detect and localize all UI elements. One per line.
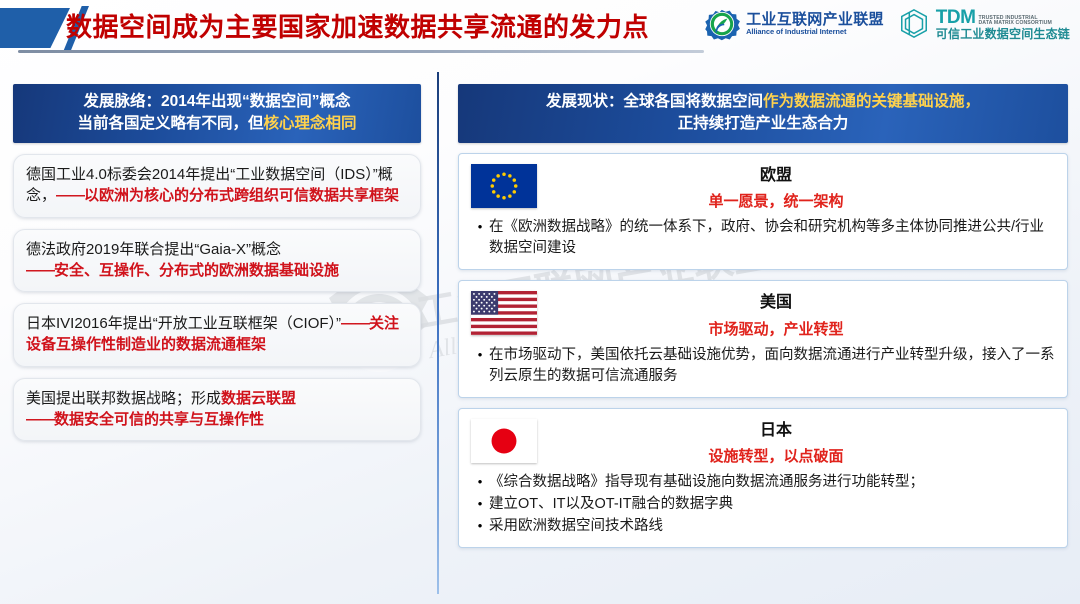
aii-gear-icon xyxy=(704,6,740,42)
tdm-logo-cn: 可信工业数据空间生态链 xyxy=(936,28,1070,41)
left-column: 发展脉络：2014年出现“数据空间”概念 当前各国定义略有不同，但核心理念相同 … xyxy=(0,70,434,604)
list-item: • 采用欧洲数据空间技术路线 xyxy=(471,516,1055,537)
jp-bullet-1: 《综合数据战略》指导现有基础设施向数据流通服务进行功能转型； xyxy=(489,472,1055,493)
tdm-abbr: TDM xyxy=(936,8,976,28)
tdm-sub-line2: DATA MATRIX CONSORTIUM xyxy=(978,21,1051,26)
header-accent-tab xyxy=(0,8,70,48)
card3-seg1: 日本IVI2016年提出“开放工业互联框架（CIOF）” xyxy=(26,315,341,332)
card4-seg1: 美国提出联邦数据战略；形成 xyxy=(26,390,221,407)
eu-flag-wrap xyxy=(471,162,567,208)
card1-dash: —— xyxy=(56,187,84,204)
jp-flag-wrap xyxy=(471,417,567,463)
tdm-logo: TDM TRUSTED INDUSTRIAL DATA MATRIX CONSO… xyxy=(898,7,1070,41)
card2-seg2: 安全、互操作、分布式的欧洲数据基础设施 xyxy=(54,262,339,279)
list-item: • 《综合数据战略》指导现有基础设施向数据流通服务进行功能转型； xyxy=(471,472,1055,493)
jp-bullets: • 《综合数据战略》指导现有基础设施向数据流通服务进行功能转型； • 建立OT、… xyxy=(471,472,1055,537)
column-divider xyxy=(437,72,439,594)
country-slogan-eu: 单一愿景，统一架构 xyxy=(567,189,985,215)
jp-bullet-3: 采用欧洲数据空间技术路线 xyxy=(489,516,1055,537)
country-name-jp: 日本 xyxy=(567,417,985,444)
list-item: • 在市场驱动下，美国依托云基础设施优势，面向数据流通进行产业转型升级，接入了一… xyxy=(471,345,1055,387)
jp-flag-icon xyxy=(471,419,537,463)
bullet-dot-icon: • xyxy=(471,516,489,536)
us-flag-wrap xyxy=(471,289,567,335)
eu-bullets: • 在《欧洲数据战略》的统一体系下，政府、协会和研究机构等多主体协同推进公共/行… xyxy=(471,217,1055,259)
country-name-eu: 欧盟 xyxy=(567,162,985,189)
left-section-header: 发展脉络：2014年出现“数据空间”概念 当前各国定义略有不同，但核心理念相同 xyxy=(13,84,421,143)
timeline-card-germany-ids: 德国工业4.0标委会2014年提出“工业数据空间（IDS）”概念，——以欧洲为核… xyxy=(13,154,421,218)
eu-bullet-1: 在《欧洲数据战略》的统一体系下，政府、协会和研究机构等多主体协同推进公共/行业数… xyxy=(489,217,1055,259)
us-flag-icon xyxy=(471,291,537,335)
bullet-dot-icon: • xyxy=(471,217,489,237)
country-card-us: 美国 市场驱动，产业转型 • 在市场驱动下，美国依托云基础设施优势，面向数据流通… xyxy=(458,280,1068,397)
logo-group: 工业互联网产业联盟 Alliance of Industrial Interne… xyxy=(704,6,1070,42)
list-item: • 建立OT、IT以及OT-IT融合的数据字典 xyxy=(471,494,1055,515)
country-card-eu: 欧盟 单一愿景，统一架构 • 在《欧洲数据战略》的统一体系下，政府、协会和研究机… xyxy=(458,153,1068,270)
aii-logo-en: Alliance of Industrial Internet xyxy=(746,28,884,36)
timeline-card-us-federal: 美国提出联邦数据战略；形成数据云联盟 ——数据安全可信的共享与互操作性 xyxy=(13,378,421,442)
card2-dash: —— xyxy=(26,262,54,279)
bullet-dot-icon: • xyxy=(471,472,489,492)
header-divider xyxy=(18,50,704,53)
us-bullets: • 在市场驱动下，美国依托云基础设施优势，面向数据流通进行产业转型升级，接入了一… xyxy=(471,345,1055,387)
left-header-line1: 发展脉络：2014年出现“数据空间”概念 xyxy=(23,91,411,113)
right-header-line2: 正持续打造产业生态合力 xyxy=(468,113,1058,135)
tdm-cube-icon xyxy=(898,7,930,41)
card1-seg2: 以欧洲为核心的分布式跨组织可信数据共享框架 xyxy=(84,187,399,204)
eu-flag-icon xyxy=(471,164,537,208)
card4-dash: —— xyxy=(26,411,54,428)
bullet-dot-icon: • xyxy=(471,345,489,365)
right-header-line1-plain: 发展现状：全球各国将数据空间 xyxy=(546,93,763,110)
country-slogan-jp: 设施转型，以点破面 xyxy=(567,444,985,470)
card2-seg1: 德法政府2019年联合提出“Gaia-X”概念 xyxy=(26,241,281,258)
right-column: 发展现状：全球各国将数据空间作为数据流通的关键基础设施， 正持续打造产业生态合力 xyxy=(452,70,1074,604)
timeline-card-gaia-x: 德法政府2019年联合提出“Gaia-X”概念 ——安全、互操作、分布式的欧洲数… xyxy=(13,229,421,293)
page-title: 数据空间成为主要国家加速数据共享流通的发力点 xyxy=(66,6,649,48)
timeline-card-japan-ciof: 日本IVI2016年提出“开放工业互联框架（CIOF）”——关注设备互操作性制造… xyxy=(13,303,421,367)
left-header-line2-highlight: 核心理念相同 xyxy=(264,115,357,132)
card3-dash: —— xyxy=(341,315,369,332)
bullet-dot-icon: • xyxy=(471,494,489,514)
list-item: • 在《欧洲数据战略》的统一体系下，政府、协会和研究机构等多主体协同推进公共/行… xyxy=(471,217,1055,259)
right-section-header: 发展现状：全球各国将数据空间作为数据流通的关键基础设施， 正持续打造产业生态合力 xyxy=(458,84,1068,143)
left-header-line2-plain: 当前各国定义略有不同，但 xyxy=(77,115,263,132)
country-slogan-us: 市场驱动，产业转型 xyxy=(567,317,985,343)
us-bullet-1: 在市场驱动下，美国依托云基础设施优势，面向数据流通进行产业转型升级，接入了一系列… xyxy=(489,345,1055,387)
aii-logo: 工业互联网产业联盟 Alliance of Industrial Interne… xyxy=(704,6,884,42)
card4-seg2: 数据安全可信的共享与互操作性 xyxy=(54,411,264,428)
right-header-line1-highlight: 作为数据流通的关键基础设施， xyxy=(763,93,980,110)
jp-bullet-2: 建立OT、IT以及OT-IT融合的数据字典 xyxy=(489,494,1055,515)
country-card-jp: 日本 设施转型，以点破面 • 《综合数据战略》指导现有基础设施向数据流通服务进行… xyxy=(458,408,1068,548)
aii-logo-cn: 工业互联网产业联盟 xyxy=(746,12,884,28)
card4-seg1-red: 数据云联盟 xyxy=(221,390,296,407)
country-name-us: 美国 xyxy=(567,289,985,316)
